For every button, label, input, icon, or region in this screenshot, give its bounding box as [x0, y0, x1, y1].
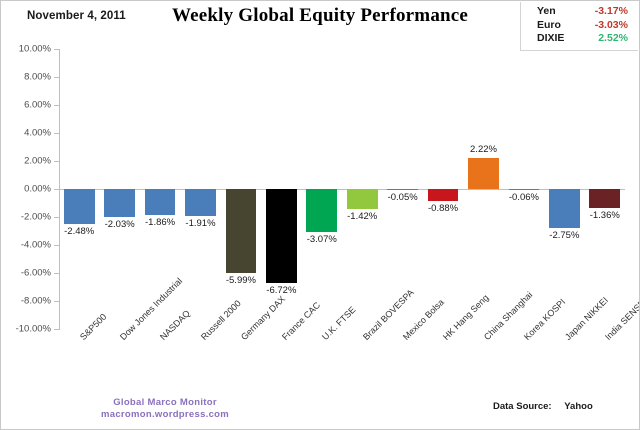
y-axis-tick-label: -10.00%	[16, 324, 51, 335]
y-axis-tick-label: 4.00%	[24, 128, 51, 139]
y-axis-tick-label: 10.00%	[19, 44, 51, 55]
y-axis-tick	[54, 329, 59, 330]
bar[interactable]	[428, 189, 459, 201]
y-axis-tick-label: 2.00%	[24, 156, 51, 167]
bar[interactable]	[104, 189, 135, 217]
bar-value-label: -0.05%	[388, 192, 418, 203]
bar[interactable]	[387, 189, 418, 190]
bar[interactable]	[64, 189, 95, 224]
currency-name: DIXIE	[537, 32, 564, 46]
bar-value-label: 2.22%	[470, 144, 497, 155]
data-source-label: Data Source:	[493, 401, 552, 412]
y-axis-tick-label: 0.00%	[24, 184, 51, 195]
bar[interactable]	[226, 189, 257, 273]
watermark-title: Global Marco Monitor	[101, 397, 229, 409]
currency-row-yen: Yen-3.17%	[527, 5, 632, 19]
bar[interactable]	[468, 158, 499, 189]
currency-value: -3.03%	[595, 19, 628, 33]
currency-value: -3.17%	[595, 5, 628, 19]
bar[interactable]	[185, 189, 216, 216]
currency-row-euro: Euro-3.03%	[527, 19, 632, 33]
y-axis-tick-label: 6.00%	[24, 100, 51, 111]
bar-value-label: -2.75%	[549, 230, 579, 241]
currency-name: Yen	[537, 5, 556, 19]
y-axis-tick-label: -8.00%	[21, 296, 51, 307]
bar-value-label: -1.91%	[185, 218, 215, 229]
chart-screenshot: November 4, 2011 Weekly Global Equity Pe…	[0, 0, 640, 430]
bar-slot: 2.22%	[463, 49, 503, 329]
data-source: Data Source: Yahoo	[493, 401, 593, 412]
bar-slot: -3.07%	[302, 49, 342, 329]
bar-slot: -0.05%	[382, 49, 422, 329]
bar-slot: -0.06%	[504, 49, 544, 329]
bar-value-label: -0.06%	[509, 192, 539, 203]
bar-slot: -2.75%	[544, 49, 584, 329]
bar-value-label: -1.36%	[590, 210, 620, 221]
y-axis-tick-label: -4.00%	[21, 240, 51, 251]
bar[interactable]	[347, 189, 378, 209]
currency-name: Euro	[537, 19, 561, 33]
bar-slot: -5.99%	[221, 49, 261, 329]
bar-value-label: -0.88%	[428, 203, 458, 214]
currency-value: 2.52%	[598, 32, 628, 46]
bar-value-label: -1.86%	[145, 217, 175, 228]
bar[interactable]	[509, 189, 540, 190]
bar-value-label: -1.42%	[347, 211, 377, 222]
bar-slot: -2.03%	[99, 49, 139, 329]
bar[interactable]	[266, 189, 297, 283]
bar-slot: -1.42%	[342, 49, 382, 329]
y-axis-tick-label: 8.00%	[24, 72, 51, 83]
y-axis-tick-label: -6.00%	[21, 268, 51, 279]
watermark: Global Marco Monitor macromon.wordpress.…	[101, 397, 229, 421]
bar[interactable]	[145, 189, 176, 215]
bar-value-label: -2.48%	[64, 226, 94, 237]
watermark-url: macromon.wordpress.com	[101, 409, 229, 421]
bar-slot: -1.36%	[585, 49, 625, 329]
bar-slot: -6.72%	[261, 49, 301, 329]
plot-area: 10.00%8.00%6.00%4.00%2.00%0.00%-2.00%-4.…	[59, 49, 625, 329]
bar-value-label: -5.99%	[226, 275, 256, 286]
bar-slot: -1.91%	[180, 49, 220, 329]
currency-row-dixie: DIXIE2.52%	[527, 32, 632, 46]
bar[interactable]	[549, 189, 580, 228]
bar[interactable]	[306, 189, 337, 232]
currency-summary-box: Yen-3.17%Euro-3.03%DIXIE2.52%	[520, 2, 638, 51]
data-source-value: Yahoo	[564, 401, 593, 412]
bar-slot: -0.88%	[423, 49, 463, 329]
bar-value-label: -2.03%	[105, 219, 135, 230]
bar-slot: -2.48%	[59, 49, 99, 329]
y-axis-tick-label: -2.00%	[21, 212, 51, 223]
bar[interactable]	[589, 189, 620, 208]
bar-value-label: -3.07%	[307, 234, 337, 245]
